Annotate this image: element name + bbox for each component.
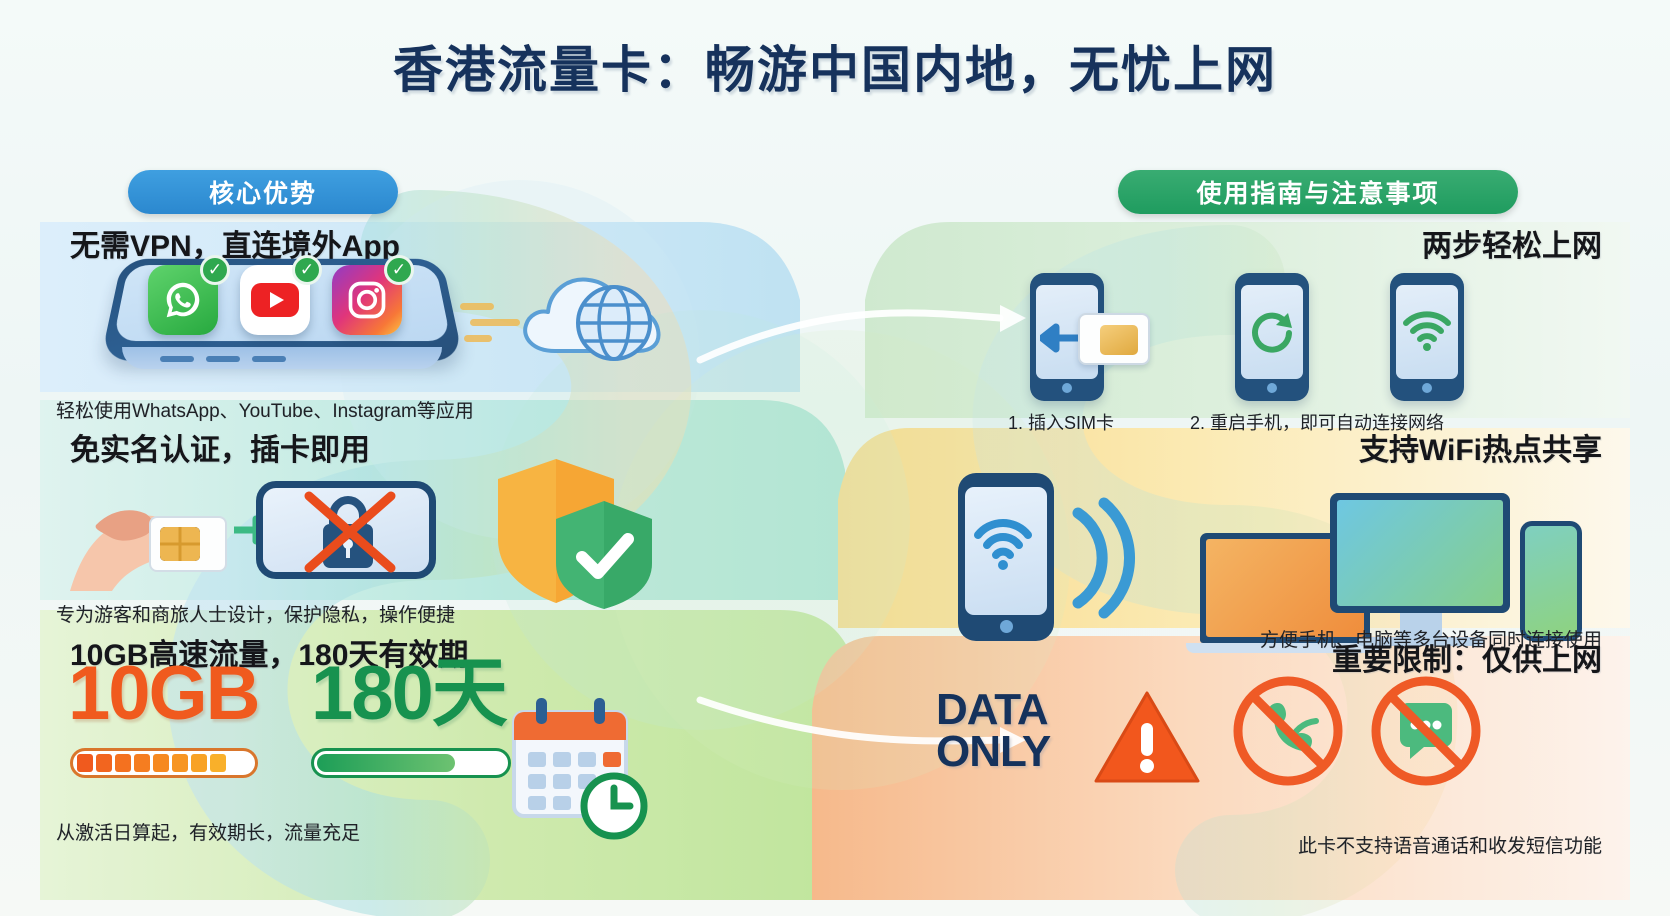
hotspot-devices-illustration [900,455,1620,620]
badge-core-advantages: 核心优势 [128,170,398,214]
youtube-glyph [250,281,300,319]
check-badge-youtube: ✓ [292,255,322,285]
instagram-icon: ✓ [332,265,402,335]
no-voice-call-icon [1230,673,1346,789]
sim-card-icon [1078,313,1150,365]
data-only-stamp: DATA ONLY [936,689,1050,773]
phone-apps-illustration: ✓ ✓ ✓ [70,227,730,387]
youtube-icon: ✓ [240,265,310,335]
left-block-1-caption: 轻松使用WhatsApp、YouTube、Instagram等应用 [56,396,474,423]
wifi-icon [1400,309,1454,353]
data-only-illustration: DATA ONLY [900,665,1620,815]
right-block-3-caption: 此卡不支持语音通话和收发短信功能 [1298,831,1602,858]
stat-validity-days: 180天 [311,656,506,732]
data-only-line-2: ONLY [936,727,1050,776]
hand-holding-sim-icon [66,473,256,603]
cloud-globe-glyph [510,255,700,385]
badge-usage-guide: 使用指南与注意事项 [1118,170,1518,214]
two-steps-illustration: 1. 插入SIM卡 2. 重启手机，即可自动连接网络 [900,249,1620,399]
arrow-left-icon [1040,321,1080,355]
warning-triangle-icon [1092,687,1202,787]
sim-privacy-illustration [56,443,716,603]
no-sms-glyph [1368,673,1484,789]
instagram-glyph [345,278,389,322]
no-identity-card-icon [256,481,436,579]
restart-icon [1248,307,1296,355]
no-sms-icon [1368,673,1484,789]
secondary-phone-device [1520,521,1582,641]
stat-data-amount: 10GB [68,656,259,732]
no-call-glyph [1230,673,1346,789]
left-column: 核心优势 无需VPN，直连境外App ✓ [42,215,762,895]
left-block-2-caption: 专为游客和商旅人士设计，保护隐私，操作便捷 [56,600,455,627]
check-badge-whatsapp: ✓ [200,255,230,285]
page-title: 香港流量卡：畅游中国内地，无忧上网 [0,30,1670,102]
signal-waves-icon [1066,497,1152,619]
whatsapp-glyph [160,277,206,323]
data-progress-bar [70,748,258,778]
right-column: 使用指南与注意事项 两步轻松上网 [900,215,1620,895]
shield-glyph [476,453,666,613]
hand-sim-glyph [66,473,256,613]
cloud-globe-icon [510,255,700,385]
shield-protection-icon [476,453,656,603]
left-block-3-caption: 从激活日算起，有效期长，流量充足 [56,818,360,845]
calendar-clock-icon [496,696,646,846]
sim-chip [1100,325,1138,355]
monitor-device [1330,493,1510,613]
validity-progress-bar [311,748,511,778]
whatsapp-icon: ✓ [148,265,218,335]
calendar-glyph [496,696,656,846]
infographic-canvas: 香港流量卡：畅游中国内地，无忧上网 核心优势 无需VPN，直连境外App ✓ [0,0,1670,916]
step-1-caption: 1. 插入SIM卡 [1008,409,1114,435]
no-lock-glyph [263,488,433,578]
wifi-hotspot-icon [972,515,1038,573]
quota-validity-illustration: 10GB 180天 [56,656,716,806]
check-badge-instagram: ✓ [384,255,414,285]
phone-base [122,347,442,369]
